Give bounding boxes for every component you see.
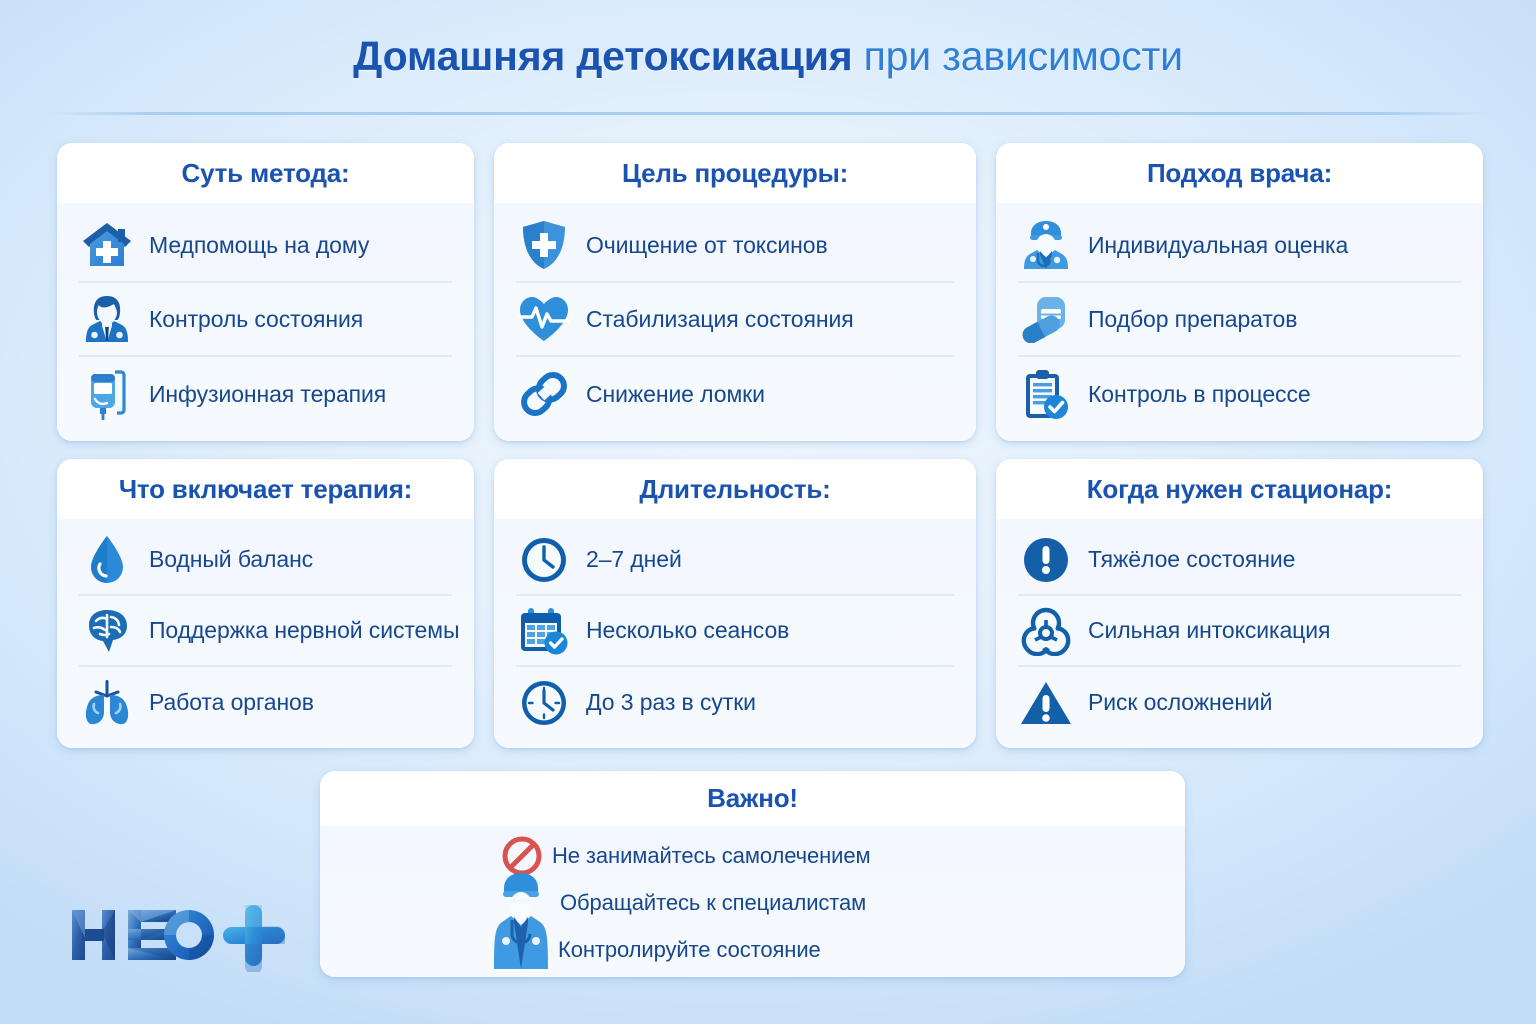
list-item[interactable]: Тяжёлое состояние [1018, 525, 1461, 596]
list-item-label: Контролируйте состояние [558, 937, 821, 963]
list-item-label: Работа органов [149, 689, 314, 716]
card-header: Важно! [320, 771, 1185, 826]
pills-icon [1018, 291, 1074, 347]
card-title: Длительность: [639, 474, 830, 505]
card-header: Когда нужен стационар: [996, 459, 1483, 519]
card-title: Когда нужен стационар: [1087, 474, 1393, 505]
list-item-label: Риск осложнений [1088, 689, 1272, 716]
page-title-light: при зависимости [864, 33, 1183, 79]
clock-icon [516, 532, 572, 588]
list-item[interactable]: Обращайтесь к специалистам [320, 879, 1185, 926]
list-item[interactable]: Риск осложнений [1018, 667, 1461, 738]
list-item-label: Контроль в процессе [1088, 381, 1311, 408]
card-header: Подход врача: [996, 143, 1483, 203]
card-cel-procedury: Цель процедуры: Очищение от токсинов [494, 143, 976, 441]
page-header: Домашняя детоксикация при зависимости [0, 0, 1536, 112]
list-item[interactable]: Контролируйте состояние [320, 926, 1185, 973]
list-item-label: Несколько сеансов [586, 617, 789, 644]
doctor-figure-icon [492, 871, 550, 971]
card-podhod-vracha: Подход врача: Инд [996, 143, 1483, 441]
card-header: Длительность: [494, 459, 976, 519]
list-item-label: Очищение от токсинов [586, 232, 828, 259]
card-grid: Суть метода: Медпомощь на дому [57, 143, 1480, 748]
list-item[interactable]: Инфузионная терапия [79, 357, 452, 431]
list-item[interactable]: Поддержка нервной системы [79, 596, 452, 667]
shield-cross-icon [516, 217, 572, 273]
list-item[interactable]: Очищение от токсинов [516, 209, 954, 283]
list-item[interactable]: Работа органов [79, 667, 452, 738]
list-item-label: Обращайтесь к специалистам [560, 890, 866, 916]
list-item-label: Не занимайтесь самолечением [552, 843, 871, 869]
doctor-person-icon [79, 291, 135, 347]
card-body: Водный баланс [57, 519, 474, 748]
chain-link-icon [516, 366, 572, 422]
list-item-label: 2–7 дней [586, 546, 682, 573]
list-item[interactable]: Не занимайтесь самолечением [320, 832, 1185, 879]
page-title: Домашняя детоксикация при зависимости [353, 33, 1183, 80]
calendar-check-icon [516, 603, 572, 659]
page-title-bold: Домашняя детоксикация [353, 33, 852, 79]
card-body: Тяжёлое состояние [996, 519, 1483, 748]
header-divider [44, 112, 1492, 115]
card-title: Что включает терапия: [119, 474, 412, 505]
list-item[interactable]: Подбор препаратов [1018, 283, 1461, 357]
card-kogda-nuzhen-stacionar: Когда нужен стационар: Тяжёлое состояние [996, 459, 1483, 748]
card-body: Не занимайтесь самолечением Обращайтесь … [320, 826, 1185, 977]
list-item[interactable]: Индивидуальная оценка [1018, 209, 1461, 283]
list-item[interactable]: Контроль состояния [79, 283, 452, 357]
brain-icon [79, 603, 135, 659]
list-item[interactable]: Стабилизация состояния [516, 283, 954, 357]
list-item-label: Сильная интоксикация [1088, 617, 1330, 644]
no-entry-icon [502, 836, 542, 876]
card-body: Индивидуальная оценка Подбор препаратов [996, 203, 1483, 441]
card-header: Цель процедуры: [494, 143, 976, 203]
neo-plus-logo [68, 898, 290, 972]
list-item[interactable]: Медпомощь на дому [79, 209, 452, 283]
card-header: Что включает терапия: [57, 459, 474, 519]
list-item-label: Поддержка нервной системы [149, 617, 459, 644]
doctor-cap-icon [1018, 217, 1074, 273]
list-item-label: Стабилизация состояния [586, 306, 854, 333]
card-chto-vkluchaet-terapiya: Что включает терапия: Водный баланс [57, 459, 474, 748]
list-item-label: Индивидуальная оценка [1088, 232, 1348, 259]
lungs-icon [79, 675, 135, 731]
list-item[interactable]: Водный баланс [79, 525, 452, 596]
card-body: 2–7 дней [494, 519, 976, 748]
list-item[interactable]: Контроль в процессе [1018, 357, 1461, 431]
exclamation-circle-icon [1018, 532, 1074, 588]
home-medical-icon [79, 217, 135, 273]
list-item[interactable]: Снижение ломки [516, 357, 954, 431]
list-item-label: Подбор препаратов [1088, 306, 1297, 333]
card-title: Цель процедуры: [622, 158, 848, 189]
list-item-label: Медпомощь на дому [149, 232, 369, 259]
card-title: Важно! [707, 783, 798, 814]
heart-pulse-icon [516, 291, 572, 347]
card-body: Очищение от токсинов Стабилизация состоя… [494, 203, 976, 441]
biohazard-icon [1018, 603, 1074, 659]
list-item[interactable]: 2–7 дней [516, 525, 954, 596]
list-item-label: Снижение ломки [586, 381, 765, 408]
list-item[interactable]: Сильная интоксикация [1018, 596, 1461, 667]
card-body: Медпомощь на дому Контроль состоя [57, 203, 474, 441]
clock-ticks-icon [516, 675, 572, 731]
warning-triangle-icon [1018, 675, 1074, 731]
list-item[interactable]: Несколько сеансов [516, 596, 954, 667]
list-item-label: Водный баланс [149, 546, 313, 573]
list-item-label: Тяжёлое состояние [1088, 546, 1295, 573]
list-item[interactable]: До 3 раз в сутки [516, 667, 954, 738]
list-item-label: Контроль состояния [149, 306, 363, 333]
card-header: Суть метода: [57, 143, 474, 203]
card-title: Подход врача: [1147, 158, 1332, 189]
card-dlitelnost: Длительность: 2–7 дней [494, 459, 976, 748]
card-title: Суть метода: [182, 158, 350, 189]
iv-drip-icon [79, 366, 135, 422]
water-drop-icon [79, 532, 135, 588]
clipboard-check-icon [1018, 366, 1074, 422]
card-vazhno: Важно! Не занимайтесь самолечение [320, 771, 1185, 977]
card-sut-metoda: Суть метода: Медпомощь на дому [57, 143, 474, 441]
list-item-label: До 3 раз в сутки [586, 689, 756, 716]
list-item-label: Инфузионная терапия [149, 381, 386, 408]
